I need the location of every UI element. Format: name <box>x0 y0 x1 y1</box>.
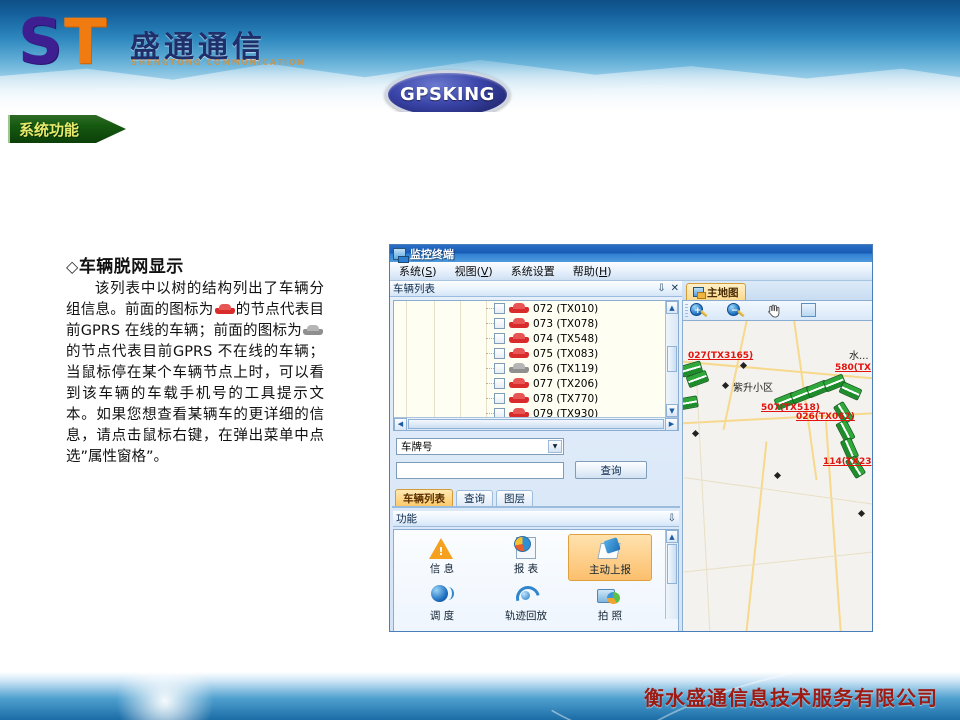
function-label: 调 度 <box>430 608 454 623</box>
car-online-icon <box>509 348 529 359</box>
row-checkbox[interactable] <box>494 363 505 374</box>
row-checkbox[interactable] <box>494 378 505 389</box>
menu-accel: S <box>425 265 432 278</box>
map-poi-icon <box>774 472 781 479</box>
logo-company-name-en: SHENGTONG COMMUNICATION <box>131 58 305 67</box>
map-vehicle-label: 026(TX062) <box>796 412 855 422</box>
menu-accel: H <box>599 265 607 278</box>
tree-row[interactable]: 076 (TX119) <box>394 361 665 376</box>
map-road-minor <box>696 381 711 632</box>
car-online-icon <box>215 304 235 315</box>
tree-vertical-scrollbar[interactable]: ▲ ▼ <box>665 301 678 417</box>
close-icon[interactable]: ✕ <box>671 284 679 294</box>
vehicle-label: 077 (TX206) <box>533 378 598 390</box>
function-report[interactable]: 报 表 <box>484 534 568 581</box>
section-tab-label: 系统功能 <box>19 119 79 140</box>
search-field-value: 车牌号 <box>401 439 433 454</box>
footer-company-name: 衡水盛通信息技术服务有限公司 <box>644 682 938 711</box>
track-playback-icon <box>513 583 539 607</box>
search-area: 车牌号 ▼ 查询 <box>396 438 676 479</box>
function-grid-wrap: 信 息 报 表 主动上报 <box>393 529 679 632</box>
row-checkbox[interactable] <box>494 348 505 359</box>
vehicle-list-title: 车辆列表 <box>393 281 652 296</box>
function-active-report[interactable]: 主动上报 <box>568 534 652 581</box>
row-checkbox[interactable] <box>494 318 505 329</box>
zoom-in-icon[interactable]: + <box>690 302 710 319</box>
chevron-down-icon[interactable]: ▼ <box>548 440 562 453</box>
pan-hand-icon[interactable] <box>764 302 784 319</box>
map-place-label: 紫升小区 <box>733 379 773 394</box>
map-road <box>723 321 750 430</box>
function-panel-title: 功能 <box>396 511 663 526</box>
map-vehicle-label: 027(TX3165) <box>688 351 753 361</box>
function-info[interactable]: 信 息 <box>400 534 484 581</box>
scroll-left-icon[interactable]: ◀ <box>394 418 407 431</box>
map-road-minor <box>684 477 872 506</box>
vehicle-label: 075 (TX083) <box>533 348 598 360</box>
vehicle-tree-rows: 072 (TX010) 073 (TX078) 074 (TX548) <box>394 301 665 417</box>
tree-row[interactable]: 078 (TX770) <box>394 391 665 406</box>
tab-underline <box>392 506 680 508</box>
tab-layers[interactable]: 图层 <box>496 490 533 506</box>
scroll-thumb[interactable] <box>667 346 677 372</box>
zoom-out-icon[interactable]: − <box>727 302 747 319</box>
map-canvas[interactable]: 027(TX3165) 580(TX 507(TX518) 026(TX062)… <box>682 321 872 632</box>
gpsking-badge: GPSKING <box>385 70 510 112</box>
search-button[interactable]: 查询 <box>575 461 647 479</box>
vehicle-label: 076 (TX119) <box>533 363 598 375</box>
function-label: 主动上报 <box>589 562 631 577</box>
pin-icon[interactable]: ⇩ <box>668 514 676 524</box>
tree-row[interactable]: 073 (TX078) <box>394 316 665 331</box>
menu-item-system-settings[interactable]: 系统设置 <box>502 263 564 279</box>
page-title-text: 车辆脱网显示 <box>79 257 184 277</box>
search-field-select[interactable]: 车牌号 ▼ <box>396 438 564 455</box>
report-icon <box>513 536 539 560</box>
map-poi-icon <box>858 510 865 517</box>
menu-label: 视图 <box>455 265 477 278</box>
menu-item-view[interactable]: 视图(V) <box>446 263 502 279</box>
monitor-icon <box>393 248 406 260</box>
map-road <box>825 421 843 632</box>
window-title: 监控终端 <box>410 246 454 262</box>
slide-page: S T 盛通通信 SHENGTONG COMMUNICATION GPSKING… <box>0 0 960 720</box>
search-row: 查询 <box>396 461 676 479</box>
car-online-icon <box>509 408 529 417</box>
car-online-icon <box>509 318 529 329</box>
vehicle-label: 078 (TX770) <box>533 393 598 405</box>
car-online-icon <box>509 393 529 404</box>
function-label: 拍 照 <box>598 608 622 623</box>
tree-row[interactable]: 075 (TX083) <box>394 346 665 361</box>
scroll-right-icon[interactable]: ▶ <box>665 418 678 431</box>
function-camera[interactable]: 拍 照 <box>568 581 652 628</box>
tab-main-map[interactable]: 主地图 <box>686 283 746 300</box>
row-checkbox[interactable] <box>494 408 505 417</box>
map-poi-icon <box>722 382 729 389</box>
application-window: 监控终端 系统(S) 视图(V) 系统设置 帮助(H) 车辆列表 ⇩ ✕ <box>389 244 873 632</box>
scroll-thumb[interactable] <box>667 544 677 584</box>
left-dock-pane: 车辆列表 ⇩ ✕ 072 (TX010) <box>390 281 682 632</box>
logo-mark: S T <box>18 14 126 70</box>
vehicle-label: 079 (TX930) <box>533 408 598 418</box>
window-body: 车辆列表 ⇩ ✕ 072 (TX010) <box>390 281 872 632</box>
tree-row[interactable]: 079 (TX930) <box>394 406 665 417</box>
map-vehicle-label: 114(TX23 <box>823 457 872 467</box>
car-offline-icon <box>509 363 529 374</box>
function-label: 信 息 <box>430 561 454 576</box>
description-text: 该列表中以树的结构列出了车辆分组信息。前面的图标为的节点代表目前GPRS 在线的… <box>66 279 324 468</box>
vehicle-tree[interactable]: 072 (TX010) 073 (TX078) 074 (TX548) <box>393 300 679 431</box>
function-panel-scrollbar[interactable]: ▲ <box>665 530 678 619</box>
vehicle-label: 072 (TX010) <box>533 303 598 315</box>
tab-query[interactable]: 查询 <box>456 490 493 506</box>
description-part-3: 的节点代表目前GPRS 不在线的车辆；当鼠标停在某个车辆节点上时，可以看到该车辆… <box>66 344 324 465</box>
car-online-icon <box>509 378 529 389</box>
pin-icon[interactable]: ⇩ <box>657 284 665 294</box>
menu-item-help[interactable]: 帮助(H) <box>564 263 621 279</box>
toolbar-grip[interactable] <box>685 304 688 317</box>
company-logo: S T 盛通通信 SHENGTONG COMMUNICATION <box>18 14 308 76</box>
gpsking-badge-label: GPSKING <box>400 84 495 105</box>
select-tool-icon[interactable] <box>801 302 821 319</box>
vehicle-marker[interactable] <box>682 395 699 410</box>
tree-row[interactable]: 074 (TX548) <box>394 331 665 346</box>
tree-horizontal-scrollbar[interactable]: ◀ ▶ <box>394 417 678 430</box>
dispatch-icon <box>429 583 455 607</box>
car-offline-icon <box>303 325 323 336</box>
menu-item-system[interactable]: 系统(S) <box>390 263 446 279</box>
map-road <box>745 441 768 632</box>
menu-label: 帮助 <box>573 265 595 278</box>
function-dispatch[interactable]: 调 度 <box>400 581 484 628</box>
tab-vehicle-list[interactable]: 车辆列表 <box>395 489 453 506</box>
function-label: 报 表 <box>514 561 538 576</box>
function-panel: 功能 ⇩ 信 息 报 表 <box>393 511 679 632</box>
row-checkbox[interactable] <box>494 333 505 344</box>
window-title-bar: 监控终端 <box>390 245 872 262</box>
menu-label: 系统设置 <box>511 265 555 278</box>
tree-row[interactable]: 072 (TX010) <box>394 301 665 316</box>
scroll-down-icon[interactable]: ▼ <box>666 404 678 417</box>
map-tab-label: 主地图 <box>707 285 739 300</box>
map-road-minor <box>683 551 872 573</box>
scroll-up-icon[interactable]: ▲ <box>666 301 678 314</box>
map-toolbar: + − <box>682 300 872 321</box>
warning-icon <box>429 536 455 560</box>
section-tab-system-functions: 系统功能 <box>8 115 126 143</box>
logo-letter-s: S <box>18 16 63 68</box>
map-vehicle-label: 580(TX <box>835 363 871 373</box>
description-block: ◇车辆脱网显示 该列表中以树的结构列出了车辆分组信息。前面的图标为的节点代表目前… <box>66 252 324 468</box>
row-checkbox[interactable] <box>494 303 505 314</box>
search-input[interactable] <box>396 462 564 479</box>
map-tab-row: 主地图 <box>682 281 872 300</box>
header-banner: S T 盛通通信 SHENGTONG COMMUNICATION GPSKING <box>0 0 960 112</box>
map-place-label-2: 水... <box>849 347 869 362</box>
menu-bar: 系统(S) 视图(V) 系统设置 帮助(H) <box>390 262 872 281</box>
function-track-playback[interactable]: 轨迹回放 <box>484 581 568 628</box>
function-panel-header: 功能 ⇩ <box>393 511 679 527</box>
scroll-thumb[interactable] <box>408 419 664 429</box>
car-online-icon <box>509 303 529 314</box>
car-online-icon <box>509 333 529 344</box>
logo-letter-t: T <box>64 16 106 68</box>
vehicle-list-panel-header: 车辆列表 ⇩ ✕ <box>390 281 682 297</box>
function-grid: 信 息 报 表 主动上报 <box>394 530 656 628</box>
menu-label: 系统 <box>399 265 421 278</box>
vehicle-marker[interactable] <box>838 381 862 401</box>
row-checkbox[interactable] <box>494 393 505 404</box>
menu-accel: V <box>481 265 489 278</box>
vehicle-label: 074 (TX548) <box>533 333 598 345</box>
vehicle-label: 073 (TX078) <box>533 318 598 330</box>
left-pane-tabs: 车辆列表 查询 图层 <box>395 488 682 506</box>
map-icon <box>693 287 704 297</box>
camera-icon <box>597 583 623 607</box>
footer-banner: 衡水盛通信息技术服务有限公司 <box>0 672 960 720</box>
upload-icon <box>597 537 623 561</box>
tree-row[interactable]: 077 (TX206) <box>394 376 665 391</box>
scroll-up-icon[interactable]: ▲ <box>666 530 678 543</box>
page-title: ◇车辆脱网显示 <box>66 252 324 277</box>
diamond-bullet-icon: ◇ <box>66 257 79 276</box>
decorative-glow <box>105 672 225 720</box>
map-dock-pane: 主地图 + − <box>682 281 872 632</box>
